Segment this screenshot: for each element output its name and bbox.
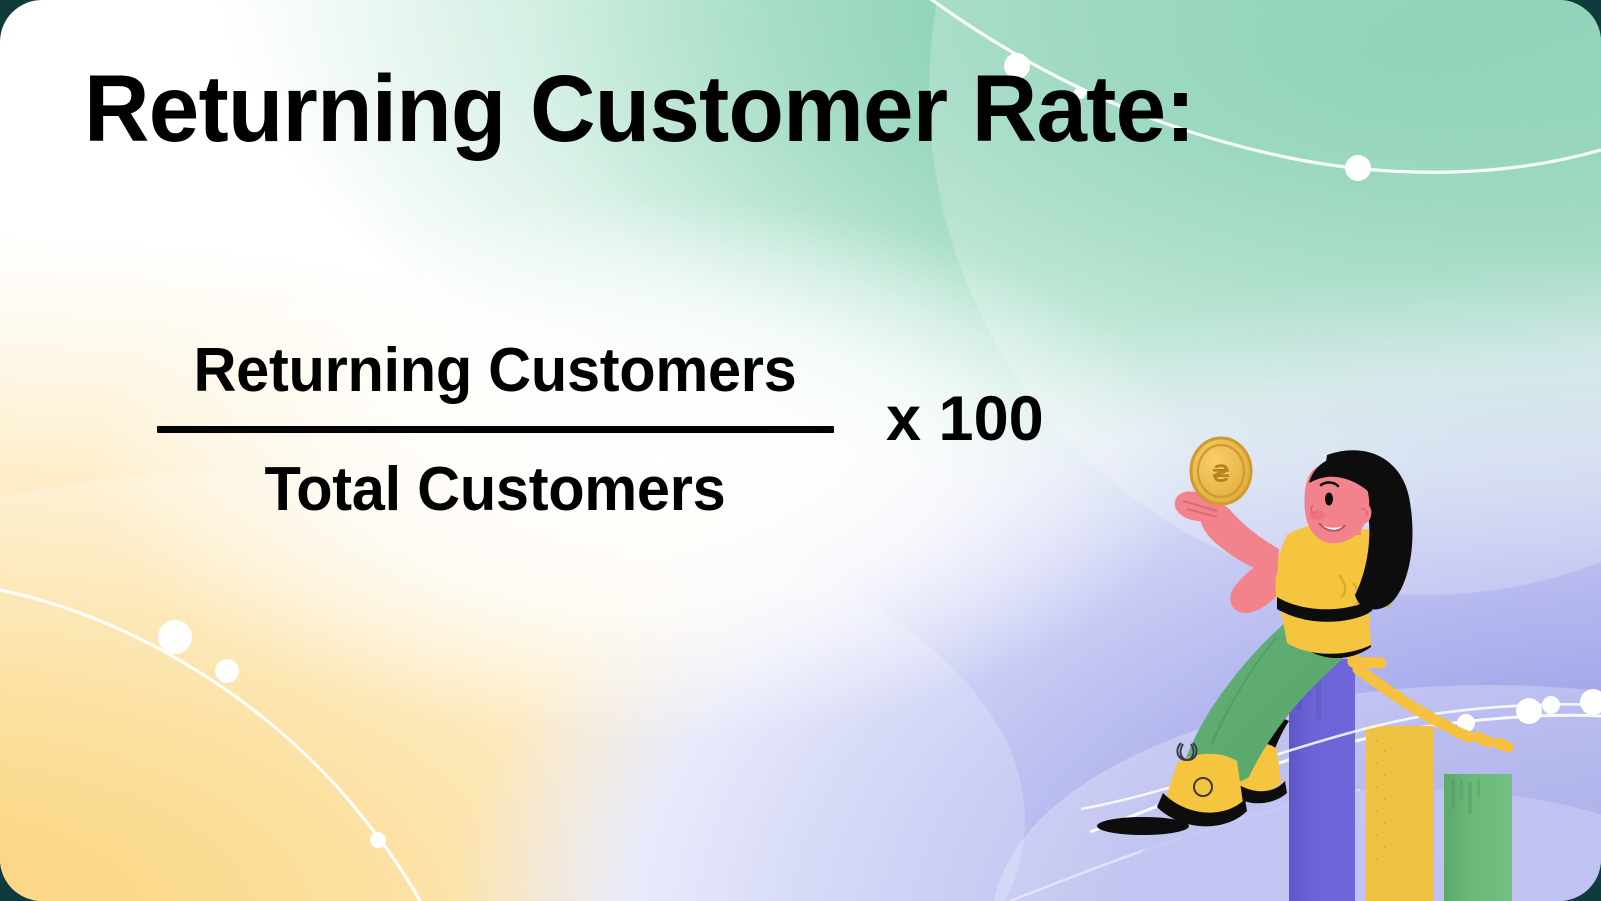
illustration-dot-small xyxy=(1542,696,1560,714)
formula-multiplier: x 100 xyxy=(886,388,1044,451)
page-title: Returning Customer Rate: xyxy=(84,62,1195,157)
illustration-dot-large xyxy=(1580,689,1601,715)
eye xyxy=(1325,493,1333,506)
formula-division-bar xyxy=(157,426,834,433)
coin-symbol: ₴ xyxy=(1213,460,1230,488)
formula-numerator: Returning Customers xyxy=(164,340,826,426)
infographic-canvas: Returning Customer Rate: Returning Custo… xyxy=(0,0,1601,901)
bar-yellow xyxy=(1366,726,1434,901)
formula-block: Returning Customers Total Customers xyxy=(150,340,840,521)
coin-icon: ₴ xyxy=(1191,438,1251,504)
shoe-shadow xyxy=(1097,817,1189,835)
illustration-woman-on-bar-chart: ₴ xyxy=(1081,431,1601,901)
formula-denominator: Total Customers xyxy=(164,433,826,521)
